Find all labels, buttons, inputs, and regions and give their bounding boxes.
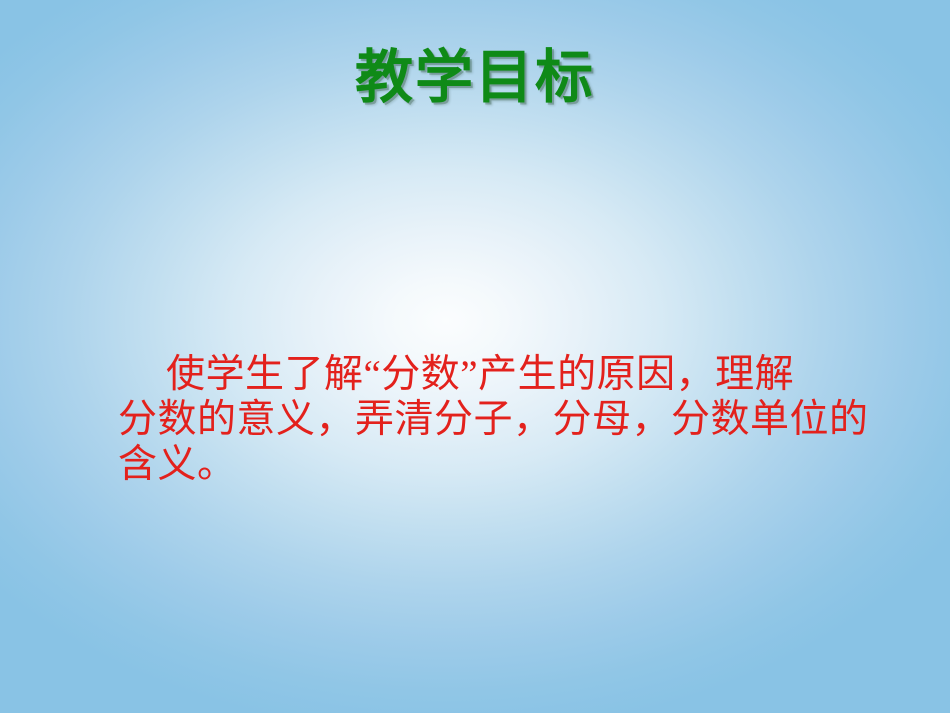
slide-body-text: 使学生了解“分数”产生的原因，理解 分数的意义，弄清分子，分母，分数单位的 含义… bbox=[118, 352, 888, 487]
page-title: 教学目标 bbox=[355, 49, 595, 107]
body-line-1: 使学生了解“分数”产生的原因，理解 bbox=[118, 352, 888, 397]
slide-title-block: 教学目标 bbox=[0, 49, 950, 107]
slide-canvas: 教学目标 使学生了解“分数”产生的原因，理解 分数的意义，弄清分子，分母，分数单… bbox=[0, 0, 950, 713]
body-line-3: 含义。 bbox=[118, 442, 888, 487]
body-line-2: 分数的意义，弄清分子，分母，分数单位的 bbox=[118, 397, 888, 442]
